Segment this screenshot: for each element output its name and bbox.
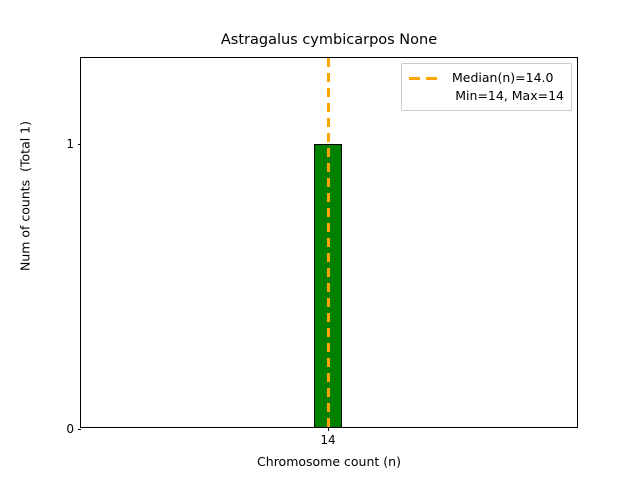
- y-axis-label: Num of counts (Total 1): [15, 11, 37, 382]
- chart-figure: Astragalus cymbicarpos None 0 1 14 Media…: [0, 0, 640, 480]
- legend-entry-median: Median(n)=14.0: [408, 69, 564, 87]
- xtick-14: [328, 427, 329, 431]
- chart-legend: Median(n)=14.0 Min=14, Max=14: [401, 63, 572, 111]
- ytick-label-0: 0: [66, 423, 74, 435]
- plot-axes: 0 1 14 Median(n)=14.0 Min=14, Max=14: [80, 57, 578, 428]
- plot-area: [81, 58, 577, 427]
- xtick-label-14: 14: [320, 434, 335, 446]
- x-axis-label: Chromosome count (n): [80, 454, 578, 469]
- chart-title: Astragalus cymbicarpos None: [80, 31, 578, 49]
- ytick-0: [78, 429, 82, 430]
- ytick-label-1: 1: [66, 138, 74, 150]
- dashed-line-icon: [408, 69, 444, 87]
- ytick-1: [78, 144, 82, 145]
- legend-entry-minmax: Min=14, Max=14: [408, 87, 564, 105]
- median-line: [327, 58, 330, 427]
- legend-label-minmax: Min=14, Max=14: [455, 87, 564, 105]
- legend-label-median: Median(n)=14.0: [452, 69, 553, 87]
